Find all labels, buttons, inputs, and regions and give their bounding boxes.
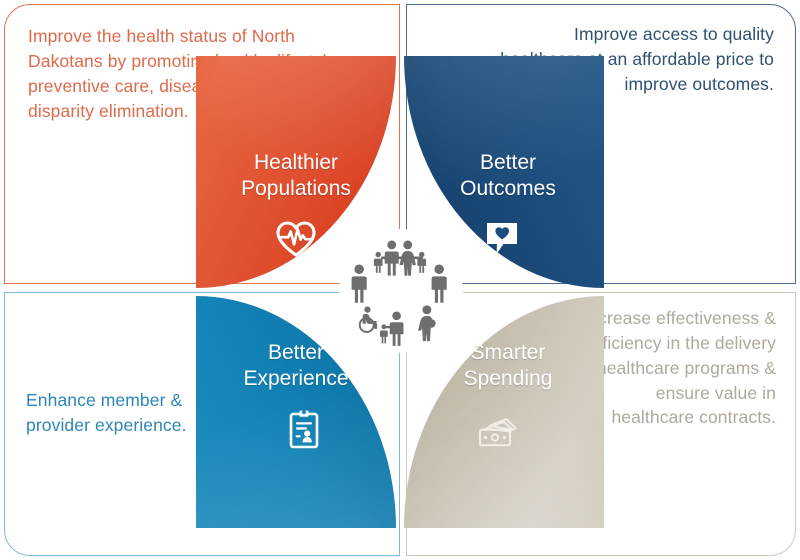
- clipboard-person-icon: [282, 409, 326, 449]
- label-healthier-populations: Healthier Populations: [208, 150, 384, 201]
- people-ring-icon: [339, 229, 463, 353]
- description-smarter-spending: Increase effectiveness & efficiency in t…: [576, 306, 776, 430]
- speech-bubble-heart-icon: [482, 219, 526, 259]
- money-bills-icon: [476, 413, 520, 453]
- diagram-canvas: Improve the health status of North Dakot…: [0, 0, 800, 560]
- label-better-outcomes: Better Outcomes: [420, 150, 596, 201]
- heart-pulse-icon: [274, 219, 318, 259]
